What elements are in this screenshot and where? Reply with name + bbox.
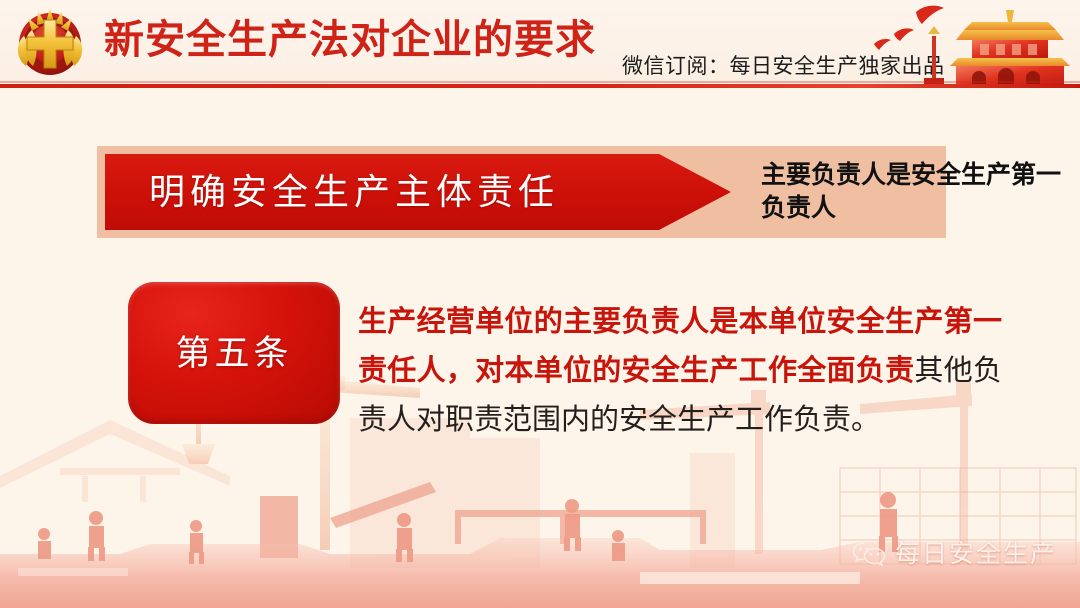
section-banner: 明确安全生产主体责任 主要负责人是安全生产第一负责人 [97, 146, 946, 238]
banner-caption: 主要负责人是安全生产第一负责人 [761, 159, 1080, 225]
page-title: 新安全生产法对企业的要求 [104, 14, 596, 66]
slide-root: 新安全生产法对企业的要求 微信订阅：每日安全生产独家出品 [0, 0, 1080, 608]
wechat-watermark: 每日安全生产 [852, 540, 1057, 568]
article-number-label: 第五条 [175, 336, 292, 371]
page-header: 新安全生产法对企业的要求 微信订阅：每日安全生产独家出品 [0, 0, 1080, 88]
safety-production-emblem-icon [8, 6, 92, 80]
banner-arrow-label: 明确安全生产主体责任 [105, 174, 559, 210]
wechat-account-name: 每日安全生产 [895, 542, 1057, 567]
article-number-badge: 第五条 [128, 282, 340, 424]
header-decoration [860, 0, 1080, 88]
article-text-highlight: 生产经营单位的主要负责人是本单位安全生产第一责任人，对本单位的安全生产工作全面负… [358, 306, 1002, 387]
wechat-icon [852, 540, 886, 568]
article-body-text: 生产经营单位的主要负责人是本单位安全生产第一责任人，对本单位的安全生产工作全面负… [358, 298, 1002, 445]
header-divider-thin [0, 81, 1080, 83]
banner-arrow-shape: 明确安全生产主体责任 [105, 154, 731, 230]
header-divider [0, 84, 1080, 88]
